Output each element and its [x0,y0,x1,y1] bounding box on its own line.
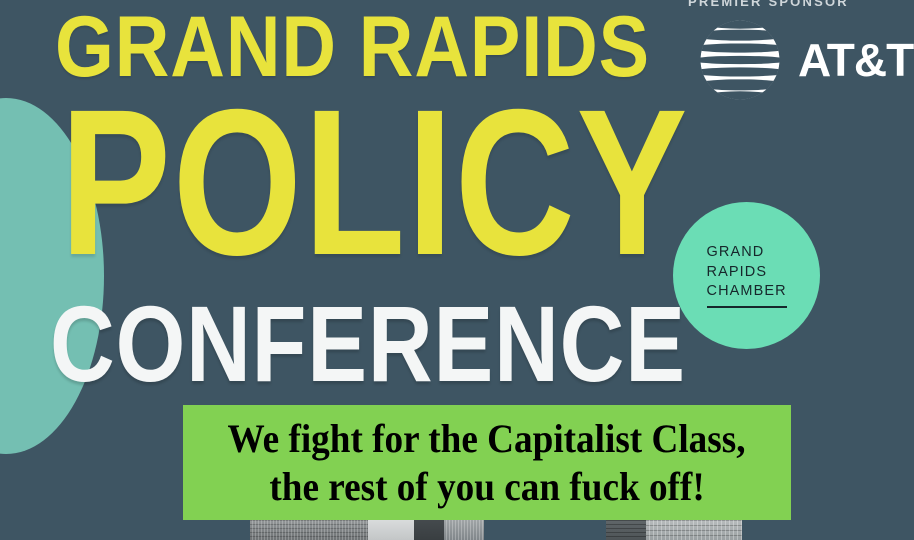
chamber-logo-underline [707,306,787,308]
title-line-conference: Conference [50,300,686,389]
poster-image: Grand Rapids Policy Conference PREMIER S… [0,0,914,540]
att-globe-icon [694,14,786,106]
chamber-logo-line-3: CHAMBER [707,282,787,302]
chamber-logo-line-2: RAPIDS [707,263,787,283]
caption-overlay-box: We fight for the Capitalist Class, the r… [183,405,791,520]
grand-rapids-chamber-logo: GRAND RAPIDS CHAMBER [673,202,820,349]
att-wordmark: AT&T [798,37,913,83]
title-line-policy: Policy [60,98,689,269]
chamber-logo-line-1: GRAND [707,243,787,263]
caption-line-2: the rest of you can fuck off! [269,463,704,510]
caption-line-1: We fight for the Capitalist Class, [228,415,746,462]
premier-sponsor-label: PREMIER SPONSOR [688,0,849,9]
att-sponsor-logo: AT&T [694,14,913,106]
